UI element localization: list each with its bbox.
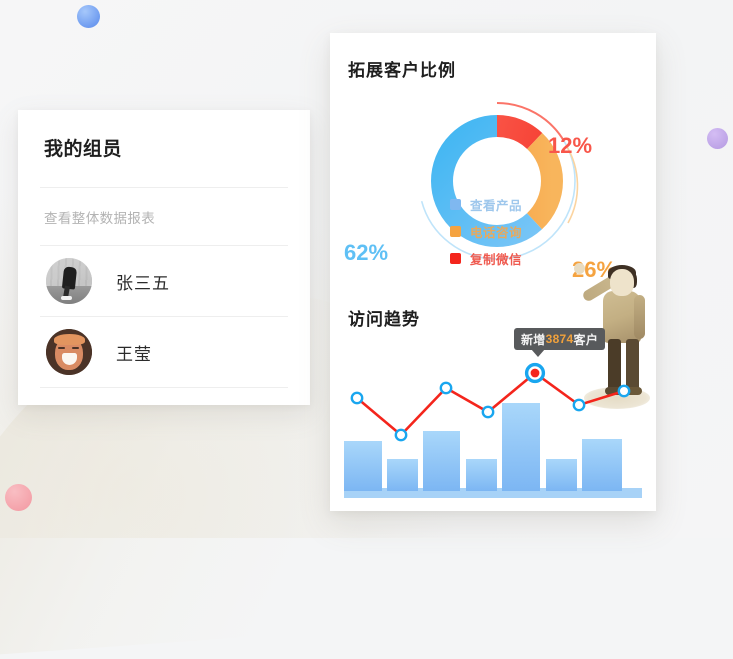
avatar bbox=[46, 329, 92, 375]
pink-dot-decoration bbox=[5, 484, 32, 511]
list-item-label: 王莹 bbox=[116, 340, 152, 365]
legend-color-chip bbox=[450, 199, 461, 210]
donut-chart[interactable]: 62% 12% 26% 查看产品 电话咨询 复制微信 bbox=[330, 75, 656, 290]
list-item[interactable]: 张三五 bbox=[18, 246, 310, 316]
line-points bbox=[352, 383, 629, 440]
donut-legend: 查看产品 电话咨询 复制微信 bbox=[450, 195, 522, 276]
tooltip-prefix: 新增 bbox=[521, 331, 546, 348]
data-point-tooltip: 新增 3874 客户 bbox=[514, 328, 605, 350]
legend-item-label: 复制微信 bbox=[470, 249, 522, 268]
legend-item[interactable]: 复制微信 bbox=[450, 249, 522, 268]
tooltip-suffix: 客户 bbox=[574, 331, 599, 348]
highlighted-line-point bbox=[526, 364, 544, 382]
donut-value-label-blue: 62% bbox=[344, 240, 388, 266]
trend-chart-svg bbox=[330, 328, 656, 511]
tooltip-pointer bbox=[531, 349, 545, 357]
legend-item-label: 查看产品 bbox=[470, 195, 522, 214]
tooltip-value: 3874 bbox=[546, 332, 574, 346]
legend-item[interactable]: 电话咨询 bbox=[450, 222, 522, 241]
trend-chart-title: 访问趋势 bbox=[348, 305, 420, 330]
bar-series bbox=[344, 403, 622, 491]
divider bbox=[40, 387, 288, 388]
view-overall-report-link[interactable]: 查看整体数据报表 bbox=[18, 188, 310, 245]
avatar bbox=[46, 258, 92, 304]
legend-color-chip bbox=[450, 226, 461, 237]
legend-item[interactable]: 查看产品 bbox=[450, 195, 522, 214]
trend-chart[interactable]: 新增 3874 客户 bbox=[330, 328, 656, 511]
donut-value-label-red: 12% bbox=[548, 133, 592, 159]
members-card-title: 我的组员 bbox=[18, 110, 310, 161]
list-item[interactable]: 王莹 bbox=[18, 317, 310, 387]
list-item-label: 张三五 bbox=[116, 269, 170, 294]
blue-dot-decoration bbox=[77, 5, 100, 28]
legend-color-chip bbox=[450, 253, 461, 264]
purple-dot-decoration bbox=[707, 128, 728, 149]
report-card: 拓展客户比例 bbox=[330, 33, 656, 511]
my-members-card: 我的组员 查看整体数据报表 张三五 王莹 bbox=[18, 110, 310, 405]
legend-item-label: 电话咨询 bbox=[470, 222, 522, 241]
